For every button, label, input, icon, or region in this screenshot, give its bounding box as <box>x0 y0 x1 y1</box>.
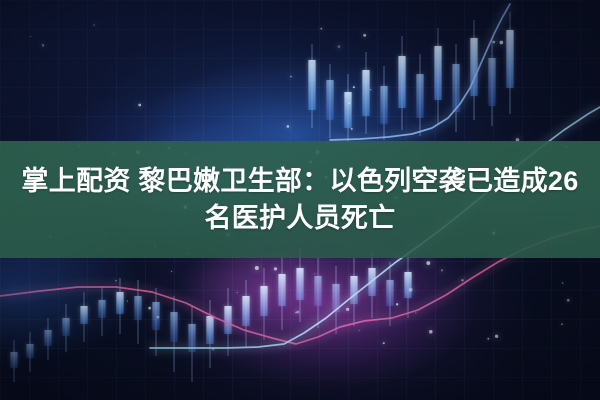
headline-text: 掌上配资 黎巴嫩卫生部：以色列空袭已造成26名医护人员死亡 <box>15 163 585 235</box>
headline-band: 掌上配资 黎巴嫩卫生部：以色列空袭已造成26名医护人员死亡 <box>0 141 600 258</box>
promo-banner: 掌上配资 黎巴嫩卫生部：以色列空袭已造成26名医护人员死亡 <box>0 0 600 400</box>
